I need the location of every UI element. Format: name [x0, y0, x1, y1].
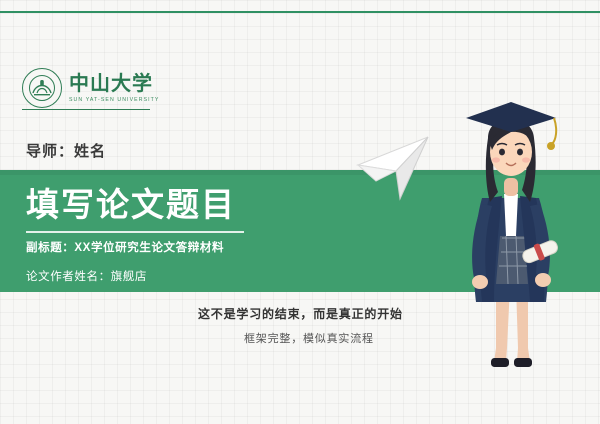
logo-underline: [22, 109, 150, 110]
subtitle: 副标题：XX学位研究生论文答辩材料: [26, 239, 224, 255]
tagline-primary: 这不是学习的结束，而是真正的开始: [198, 305, 403, 322]
title-underline: [26, 231, 244, 233]
university-logo: 中山大学 SUN YAT-SEN UNIVERSITY: [22, 68, 160, 108]
page-title: 填写论文题目: [26, 186, 236, 224]
author-line: 论文作者姓名：旗舰店: [26, 268, 147, 284]
presentation-title-slide: 中山大学 SUN YAT-SEN UNIVERSITY 导师：姓名 填写论文题目…: [0, 0, 600, 424]
university-name-en: SUN YAT-SEN UNIVERSITY: [69, 96, 160, 104]
tagline-secondary: 框架完整，模似真实流程: [244, 330, 374, 346]
advisor-line: 导师：姓名: [26, 140, 106, 161]
paper-plane-icon: [356, 135, 436, 206]
top-accent-rule: [0, 11, 600, 13]
university-name-cn: 中山大学: [69, 73, 160, 95]
university-seal-icon: [22, 68, 62, 108]
graduate-student-illustration: [444, 86, 576, 386]
